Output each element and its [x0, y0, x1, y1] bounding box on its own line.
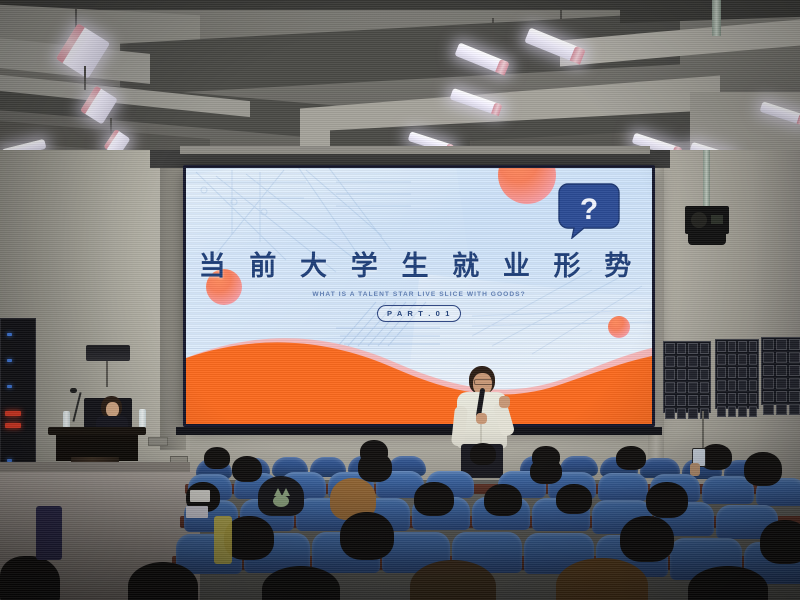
glasses-icon: [474, 379, 493, 385]
operator-face: [106, 402, 119, 417]
speaker-bracket: [106, 361, 108, 387]
projection-screen: ? 当 前 大 学 生 就 业 形 势 WHAT IS A TALENT STA…: [186, 168, 652, 424]
audience-head: [616, 446, 646, 470]
slide-subtitle: WHAT IS A TALENT STAR LIVE SLICE WITH GO…: [186, 290, 652, 299]
audience-head: [556, 484, 592, 514]
audience-head: [470, 443, 496, 465]
camera-mount: [688, 233, 726, 245]
screenshot-root: ? 当 前 大 学 生 就 业 形 势 WHAT IS A TALENT STA…: [0, 0, 800, 600]
audience-head: [646, 482, 688, 518]
lamp-rod: [84, 66, 86, 90]
power-outlet-plate: [148, 437, 168, 446]
camera-lens-icon: [691, 212, 707, 228]
ceiling-beam: [620, 0, 800, 23]
microphone-head-icon: [70, 388, 77, 393]
projection-screen-frame: ? 当 前 大 学 生 就 业 形 势 WHAT IS A TALENT STA…: [183, 165, 655, 427]
audience-head: [620, 516, 674, 562]
question-mark-speech-bubble-icon: ?: [558, 183, 620, 239]
rack-led: [7, 359, 12, 362]
audience-head: [760, 520, 800, 564]
wall-mounted-speaker: [86, 345, 130, 361]
rack-led: [5, 411, 21, 416]
audience-head: [340, 512, 394, 560]
svg-text:?: ?: [580, 193, 598, 226]
audience-head-with-cap: [258, 476, 304, 516]
audience-head: [484, 484, 522, 516]
audience-head: [530, 458, 562, 484]
paper-sheet: [190, 490, 210, 502]
raised-hand: [690, 463, 700, 476]
screen-bottom-edge: [176, 427, 662, 435]
aisle-bag: [36, 506, 62, 560]
presenter-mic-hand: [476, 413, 487, 424]
camera-detail: [711, 215, 723, 224]
audience-head: [204, 447, 230, 469]
audience-head: [414, 482, 454, 516]
ceiling-slab: [690, 92, 800, 152]
auditorium-seat[interactable]: [598, 473, 648, 501]
audience-head: [744, 452, 782, 486]
water-bottle: [139, 409, 146, 428]
slide-wave-orange: [186, 328, 652, 424]
slide-part-badge: P A R T . 0 1: [377, 305, 461, 322]
cat-graphic-cap-icon: [258, 476, 304, 516]
rack-led: [7, 385, 12, 388]
seat-number-board: [663, 341, 711, 413]
lamp-rod: [110, 118, 112, 134]
lectern-top: [48, 427, 146, 435]
ceiling-support-pole: [712, 0, 721, 36]
paper-sheet: [186, 506, 208, 518]
lamp-rod: [492, 18, 494, 56]
lamp-rod: [560, 10, 562, 42]
right-wall: [640, 150, 800, 490]
wall-mounted-camera: [685, 206, 729, 234]
audience-head: [358, 452, 392, 482]
yellow-jacket: [214, 516, 232, 564]
foreground-head: [0, 556, 60, 600]
support-pole: [703, 150, 710, 210]
slide-title: 当 前 大 学 生 就 业 形 势: [186, 250, 652, 282]
seat-number-board: [715, 339, 759, 409]
seat-number-board: [761, 337, 800, 405]
stage-step: [0, 462, 190, 472]
rack-led: [7, 333, 12, 336]
rack-led: [5, 423, 21, 428]
screen-rail: [180, 146, 650, 154]
presenter-gesturing-hand: [499, 396, 510, 408]
board-cable: [702, 411, 704, 449]
